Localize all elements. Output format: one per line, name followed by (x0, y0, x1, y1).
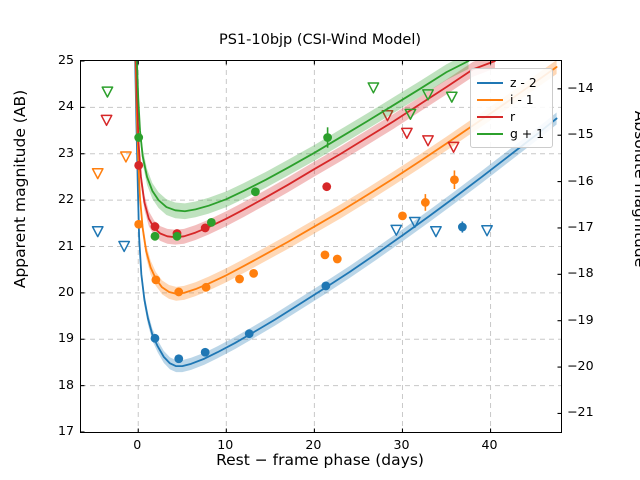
data-point-z (151, 334, 160, 343)
y-tick-label-left: 18 (34, 377, 74, 392)
data-point-z (174, 354, 183, 363)
y-tick-label-left: 17 (34, 423, 74, 438)
chart-title: PS1-10bjp (CSI-Wind Model) (0, 32, 640, 48)
y-tick-label-right: −17 (567, 219, 611, 234)
model-band-g (137, 61, 469, 219)
data-point-i (151, 275, 160, 284)
y-tick-label-right: −18 (567, 265, 611, 280)
y-tick-label-left: 25 (34, 52, 74, 67)
legend-item-r[interactable]: r (477, 108, 544, 125)
x-tick-label: 40 (470, 437, 510, 452)
data-point-i (202, 283, 211, 292)
y-tick-label-right: −16 (567, 173, 611, 188)
y-tick-label-left: 20 (34, 284, 74, 299)
data-point-i (421, 198, 430, 207)
legend-swatch-r (477, 116, 503, 118)
legend-label-g: g + 1 (510, 126, 544, 141)
data-point-z (201, 348, 210, 357)
legend-item-g[interactable]: g + 1 (477, 125, 544, 142)
data-point-z (245, 329, 254, 338)
y-tick-label-left: 22 (34, 191, 74, 206)
y-tick-label-left: 21 (34, 238, 74, 253)
plot-area: z - 2i - 1rg + 1 (80, 60, 562, 433)
data-point-z (321, 282, 330, 291)
data-point-i (321, 250, 330, 259)
legend-label-i: i - 1 (510, 92, 534, 107)
x-tick-label: 10 (205, 437, 245, 452)
data-point-i (450, 175, 459, 184)
upper-limit-marker-i (93, 169, 103, 179)
upper-limit-marker-z (431, 227, 441, 237)
y-tick-label-right: −15 (567, 126, 611, 141)
figure: PS1-10bjp (CSI-Wind Model) Apparent magn… (0, 0, 640, 480)
data-point-i (249, 269, 258, 278)
y-tick-label-left: 24 (34, 98, 74, 113)
data-point-i (398, 211, 407, 220)
x-tick-label: 0 (117, 437, 157, 452)
data-point-i (235, 275, 244, 284)
y-tick-label-right: −14 (567, 80, 611, 95)
data-point-i (134, 220, 143, 229)
upper-limit-marker-r (423, 136, 433, 146)
upper-limit-marker-r (101, 115, 111, 125)
data-point-r (322, 182, 331, 191)
upper-limit-marker-g (447, 92, 457, 102)
data-point-r (134, 161, 143, 170)
legend-label-z: z - 2 (510, 75, 537, 90)
upper-limit-marker-i (121, 152, 131, 162)
legend-item-i[interactable]: i - 1 (477, 91, 544, 108)
legend-item-z[interactable]: z - 2 (477, 74, 544, 91)
data-point-i (174, 288, 183, 297)
legend-swatch-g (477, 133, 503, 135)
data-point-g (151, 232, 160, 241)
y-axis-label-left: Apparent magnitude (AB) (11, 29, 29, 349)
data-point-i (333, 255, 342, 264)
upper-limit-marker-r (402, 128, 412, 138)
x-axis-label: Rest − frame phase (days) (0, 451, 640, 469)
y-tick-label-left: 23 (34, 145, 74, 160)
data-point-g (173, 232, 182, 241)
y-tick-label-right: −21 (567, 404, 611, 419)
data-point-g (323, 133, 332, 142)
x-tick-label: 20 (293, 437, 333, 452)
legend-label-r: r (510, 109, 515, 124)
legend: z - 2i - 1rg + 1 (470, 68, 553, 148)
data-point-z (458, 223, 467, 232)
series-g (102, 61, 468, 241)
data-point-r (151, 222, 160, 231)
upper-limit-marker-z (93, 227, 103, 237)
data-point-g (207, 218, 216, 227)
y-axis-label-right: Absolute magnitude (631, 29, 640, 349)
upper-limit-marker-g (102, 87, 112, 97)
legend-swatch-i (477, 99, 503, 101)
y-tick-label-left: 19 (34, 330, 74, 345)
y-tick-label-right: −20 (567, 358, 611, 373)
upper-limit-marker-g (368, 83, 378, 93)
legend-swatch-z (477, 82, 503, 84)
y-tick-label-right: −19 (567, 312, 611, 327)
x-tick-label: 30 (381, 437, 421, 452)
data-point-g (251, 187, 260, 196)
data-point-g (134, 133, 143, 142)
